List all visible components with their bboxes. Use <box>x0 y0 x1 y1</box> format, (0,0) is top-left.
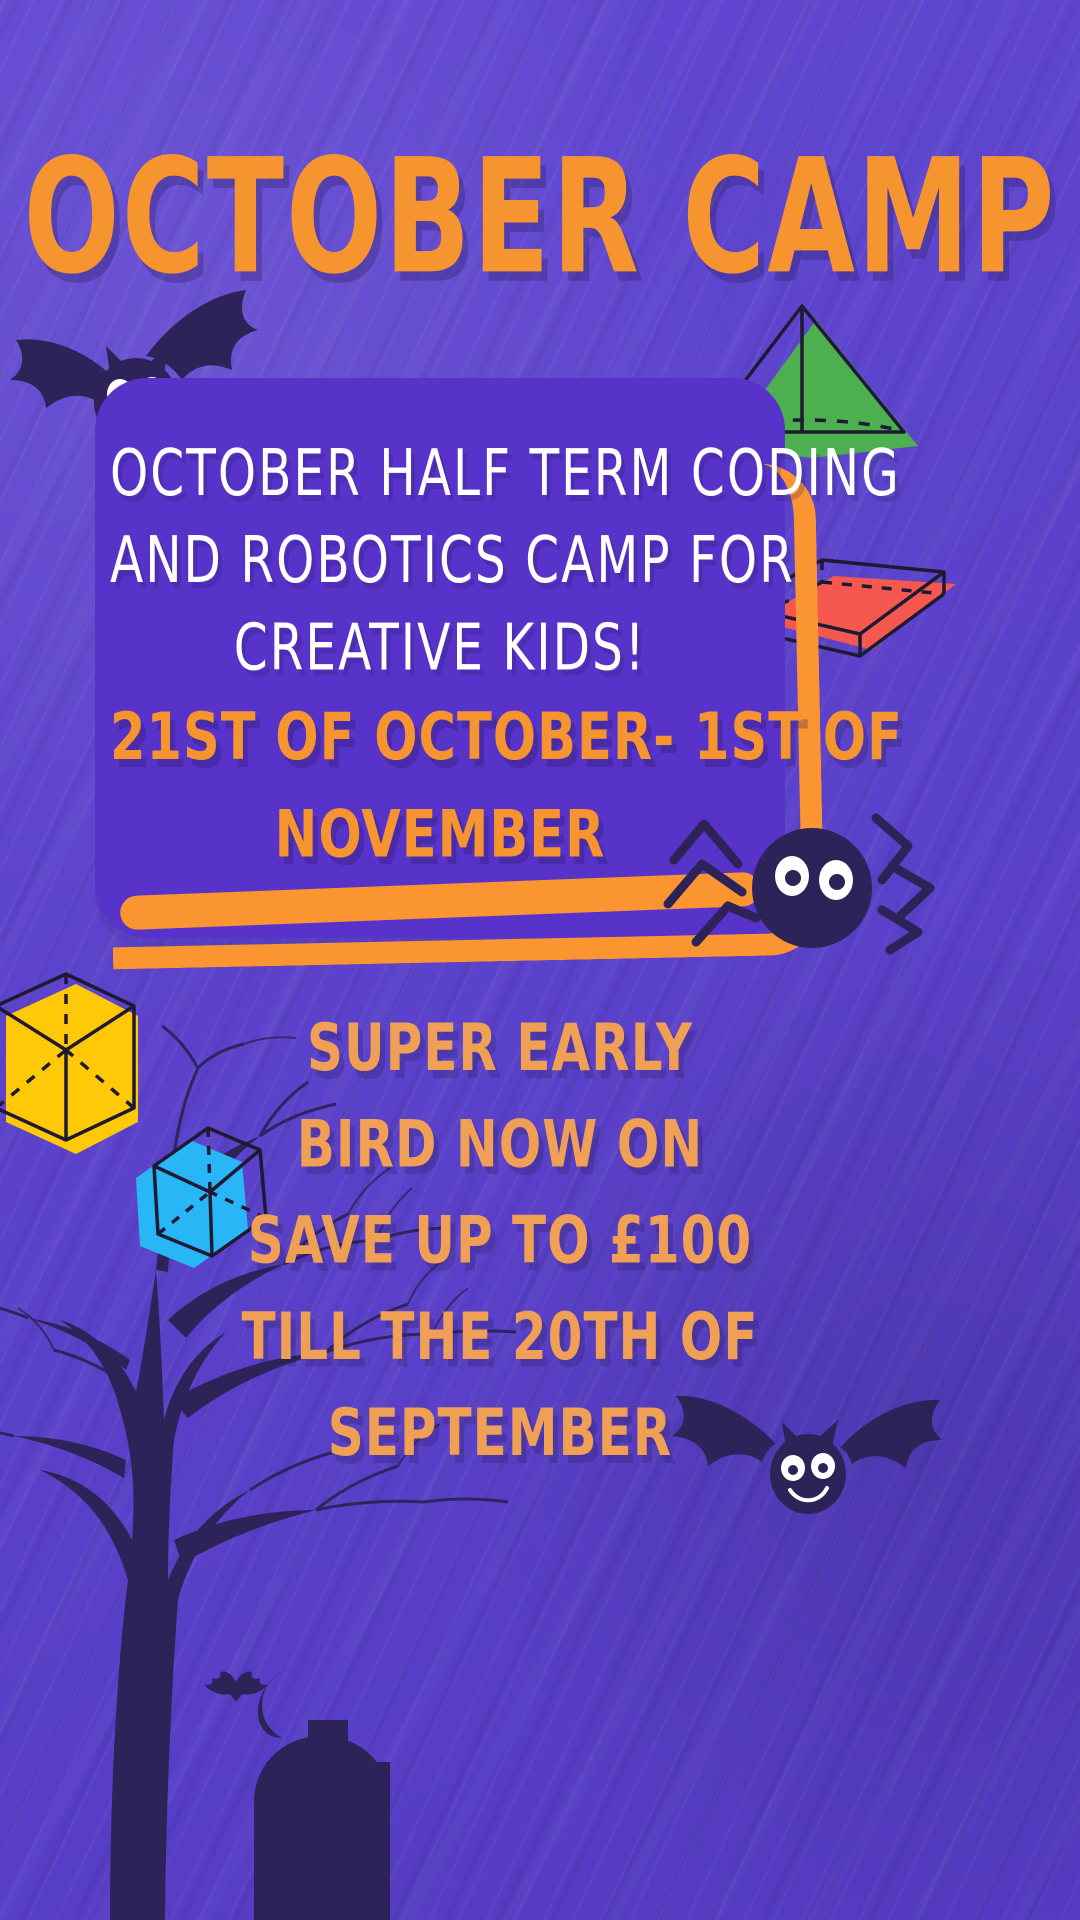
headline-line-1: OCTOBER HALF TERM CODING <box>110 430 770 517</box>
promo-line-3: SAVE UP TO £100 <box>230 1192 770 1288</box>
promo-line-5: SEPTEMBER <box>230 1385 770 1481</box>
headline-text: OCTOBER HALF TERM CODING AND ROBOTICS CA… <box>110 430 770 692</box>
headline-line-3: CREATIVE KIDS! <box>110 605 770 692</box>
poster-canvas: OCTOBER CAMP OCTOBER HALF TERM CODING AN… <box>0 0 1080 1920</box>
promo-line-2: BIRD NOW ON <box>230 1096 770 1192</box>
date-range-text: 21ST OF OCTOBER- 1ST OF NOVEMBER <box>110 690 770 885</box>
promo-line-1: SUPER EARLY <box>230 1000 770 1096</box>
headline-line-2: AND ROBOTICS CAMP FOR <box>110 517 770 604</box>
promo-offer-text: SUPER EARLY BIRD NOW ON SAVE UP TO £100 … <box>230 1000 770 1481</box>
promo-line-4: TILL THE 20TH OF <box>230 1289 770 1385</box>
date-line-1: 21ST OF OCTOBER- 1ST OF <box>110 690 770 787</box>
date-line-2: NOVEMBER <box>110 787 770 884</box>
headline-block: OCTOBER HALF TERM CODING AND ROBOTICS CA… <box>110 430 770 652</box>
page-title: OCTOBER CAMP <box>22 124 1059 309</box>
